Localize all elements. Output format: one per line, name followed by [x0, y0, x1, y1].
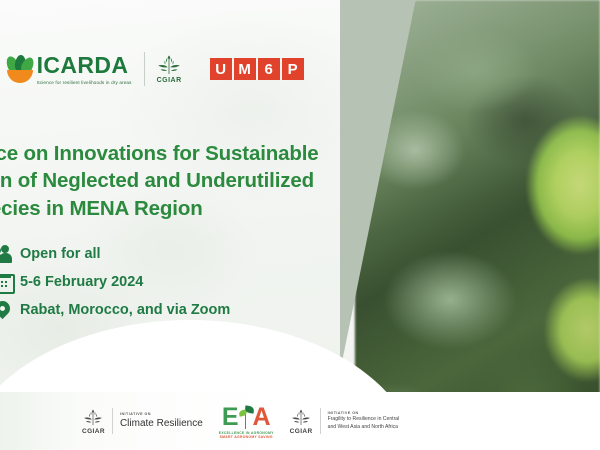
partner-kicker: INITIATIVE ON	[328, 411, 400, 415]
icarda-logo: ICARDA Science for resilient livelihoods…	[7, 54, 132, 85]
partner-divider	[112, 408, 113, 434]
um6p-letter-p: P	[282, 58, 304, 80]
leaf-bowl-icon	[7, 55, 33, 83]
location-pin-icon	[0, 300, 14, 320]
conference-poster: IP ICARDA Science for resilient liveliho…	[0, 0, 600, 450]
cgiar-wheat-icon	[83, 408, 103, 427]
um6p-letter-u: U	[210, 58, 232, 80]
eia-letter-a: A	[253, 406, 271, 430]
cgiar-logo-climate: CGIAR	[82, 408, 105, 435]
partner-eia: E A EXCELLENCE IN AGRONOMY SMART AGRONOM…	[219, 404, 274, 439]
calendar-icon	[0, 272, 14, 292]
title-line-2: ction of Neglected and Underutilized	[0, 167, 354, 194]
cgiar-name: CGIAR	[157, 77, 182, 84]
detail-row-audience: Open for all	[0, 244, 230, 264]
people-icon	[0, 244, 14, 264]
icarda-name: ICARDA	[37, 54, 132, 77]
title-line-3: Species in MENA Region	[0, 195, 354, 222]
um6p-letter-m: M	[234, 58, 256, 80]
eia-letter-e: E	[222, 406, 239, 430]
partner-fragility-resilience: CGIAR INITIATIVE ON Fragility to Resilie…	[290, 408, 400, 435]
partner-divider	[320, 408, 321, 434]
partner-name-line-2: and West Asia and North Africa	[328, 425, 400, 431]
detail-date-text: 5-6 February 2024	[20, 274, 143, 290]
eia-subtitle-2: SMART AGRONOMY SAVING	[220, 435, 273, 439]
um6p-logo: U M 6 P	[210, 58, 306, 80]
event-details: Open for all 5-6 February 2024	[0, 244, 230, 328]
detail-row-location: Rabat, Morocco, and via Zoom	[0, 300, 230, 320]
title-line-1: rence on Innovations for Sustainable	[0, 140, 354, 167]
left-panel-content: IP ICARDA Science for resilient liveliho…	[0, 0, 340, 450]
logo-divider	[144, 52, 145, 86]
cgiar-wheat-icon	[157, 54, 181, 76]
detail-row-date: 5-6 February 2024	[0, 272, 230, 292]
partner-kicker: INITIATIVE ON	[120, 412, 203, 416]
partner-climate-resilience: CGIAR INITIATIVE ON Climate Resilience	[82, 408, 203, 435]
cgiar-label: CGIAR	[290, 428, 313, 435]
cgiar-logo-fragility: CGIAR	[290, 408, 313, 435]
partner-name-line-1: Fragility to Resilience in Central	[328, 417, 400, 423]
partner-logo-bar: CGIAR INITIATIVE ON Climate Resilience E…	[0, 392, 600, 450]
cgiar-wheat-icon	[291, 408, 311, 427]
eia-logo: E A EXCELLENCE IN AGRONOMY SMART AGRONOM…	[219, 404, 274, 439]
icarda-tagline: Science for resilient livelihoods in dry…	[37, 80, 132, 85]
header-logo-row: IP ICARDA Science for resilient liveliho…	[0, 52, 306, 86]
detail-location-text: Rabat, Morocco, and via Zoom	[20, 302, 230, 318]
detail-audience-text: Open for all	[20, 246, 101, 262]
partner-name: Climate Resilience	[120, 418, 203, 429]
cgiar-label: CGIAR	[82, 428, 105, 435]
cgiar-logo: CGIAR	[157, 54, 182, 84]
sprout-icon	[239, 404, 253, 430]
um6p-letter-6: 6	[258, 58, 280, 80]
page-title: rence on Innovations for Sustainable cti…	[0, 140, 354, 222]
